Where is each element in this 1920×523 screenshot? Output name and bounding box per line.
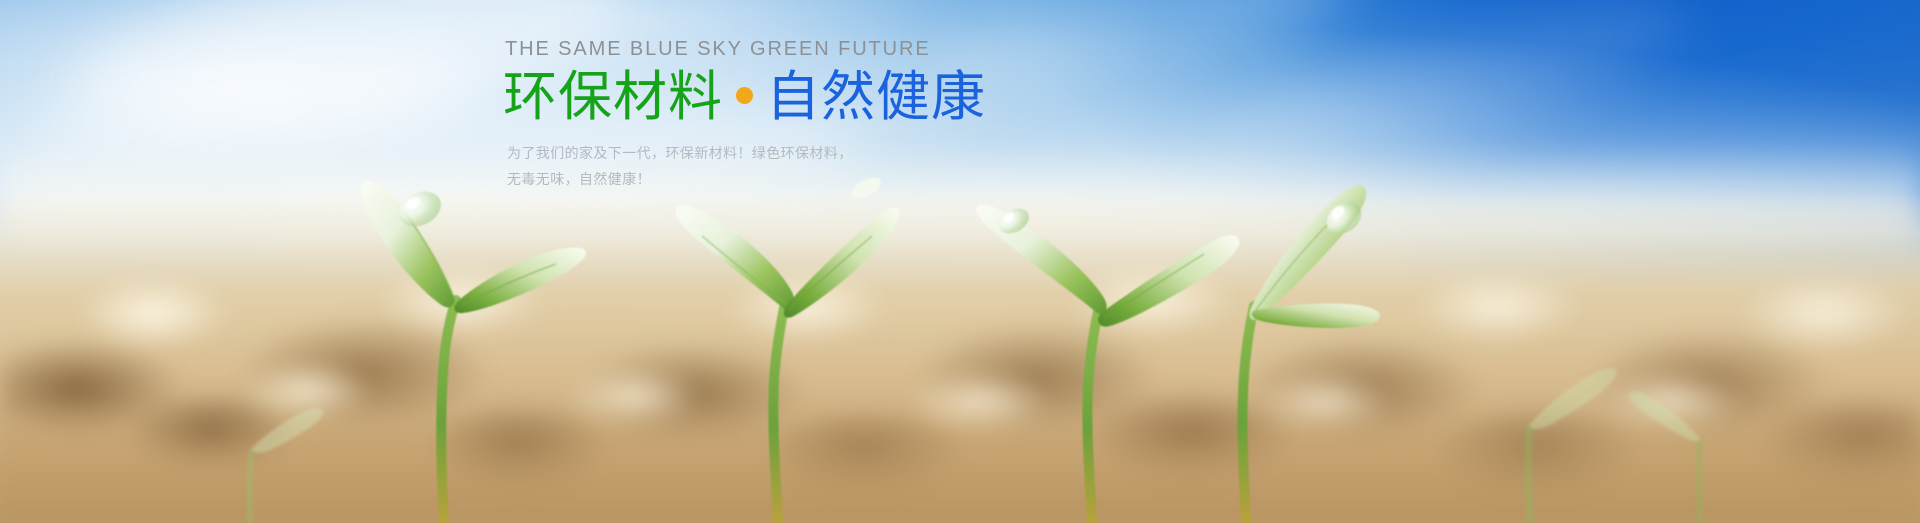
headline-blue-text: 自然健康 <box>766 65 986 128</box>
banner-copy: THE SAME BLUE SKY GREEN FUTURE 环保材料自然健康 … <box>503 38 1023 192</box>
orange-dot-icon <box>736 87 753 104</box>
sprout-4 <box>1243 185 1381 523</box>
subtitle-line-2: 无毒无味，自然健康！ <box>507 167 1023 193</box>
banner-tagline: THE SAME BLUE SKY GREEN FUTURE <box>505 38 1023 60</box>
banner-headline: 环保材料自然健康 <box>503 66 1023 129</box>
background-sprouts <box>249 368 1700 523</box>
sprout-1 <box>361 180 586 523</box>
banner-subtitle: 为了我们的家及下一代，环保新材料！绿色环保材料， 无毒无味，自然健康！ <box>507 141 1023 193</box>
subtitle-line-1: 为了我们的家及下一代，环保新材料！绿色环保材料， <box>507 141 1023 167</box>
sprout-2 <box>676 173 899 523</box>
hero-banner: THE SAME BLUE SKY GREEN FUTURE 环保材料自然健康 … <box>0 0 1920 523</box>
headline-green-text: 环保材料 <box>503 65 723 128</box>
sprout-3 <box>976 203 1239 523</box>
